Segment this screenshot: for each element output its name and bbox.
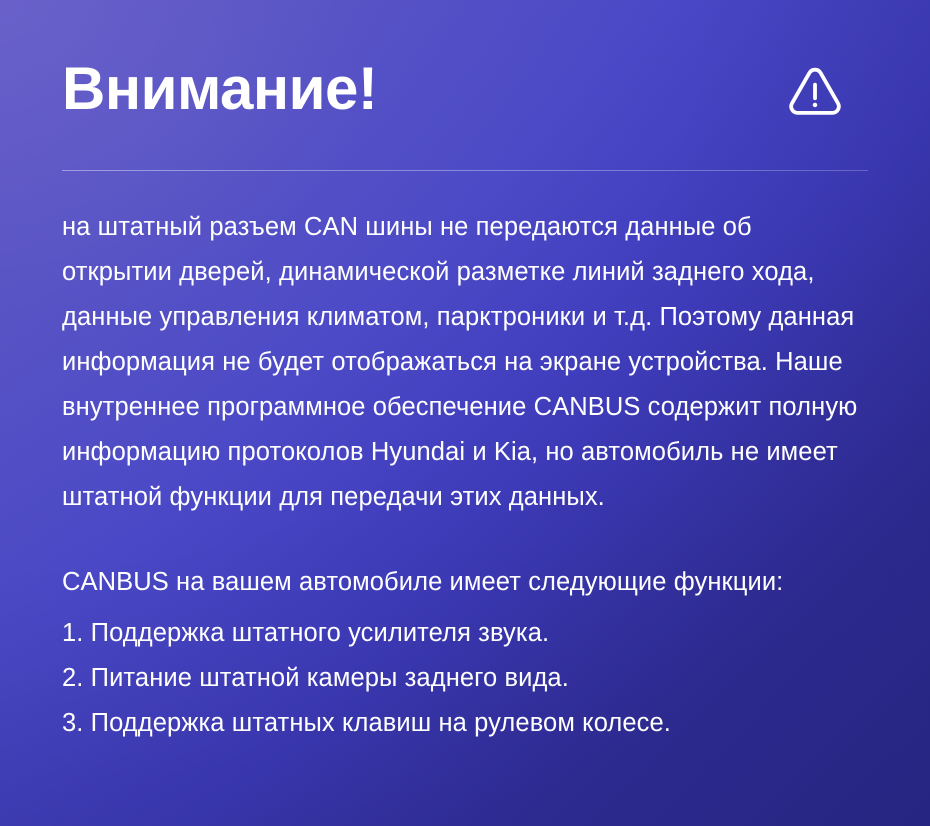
intro-paragraph: на штатный разъем CAN шины не передаются… — [62, 205, 868, 520]
card-inner: Внимание! на штатный разъем CAN шины не … — [0, 0, 930, 746]
list-item: 3. Поддержка штатных клавиш на рулевом к… — [62, 701, 868, 746]
functions-list: 1. Поддержка штатного усилителя звука. 2… — [62, 611, 868, 746]
warning-triangle-icon — [786, 62, 844, 120]
page-title: Внимание! — [62, 59, 377, 119]
header-divider — [62, 170, 868, 171]
header: Внимание! — [62, 0, 868, 170]
functions-lead-text: CANBUS на вашем автомобиле имеет следующ… — [62, 560, 868, 605]
list-item: 1. Поддержка штатного усилителя звука. — [62, 611, 868, 656]
list-item: 2. Питание штатной камеры заднего вида. — [62, 656, 868, 701]
functions-block: CANBUS на вашем автомобиле имеет следующ… — [62, 560, 868, 746]
warning-notice-card: Внимание! на штатный разъем CAN шины не … — [0, 0, 930, 826]
